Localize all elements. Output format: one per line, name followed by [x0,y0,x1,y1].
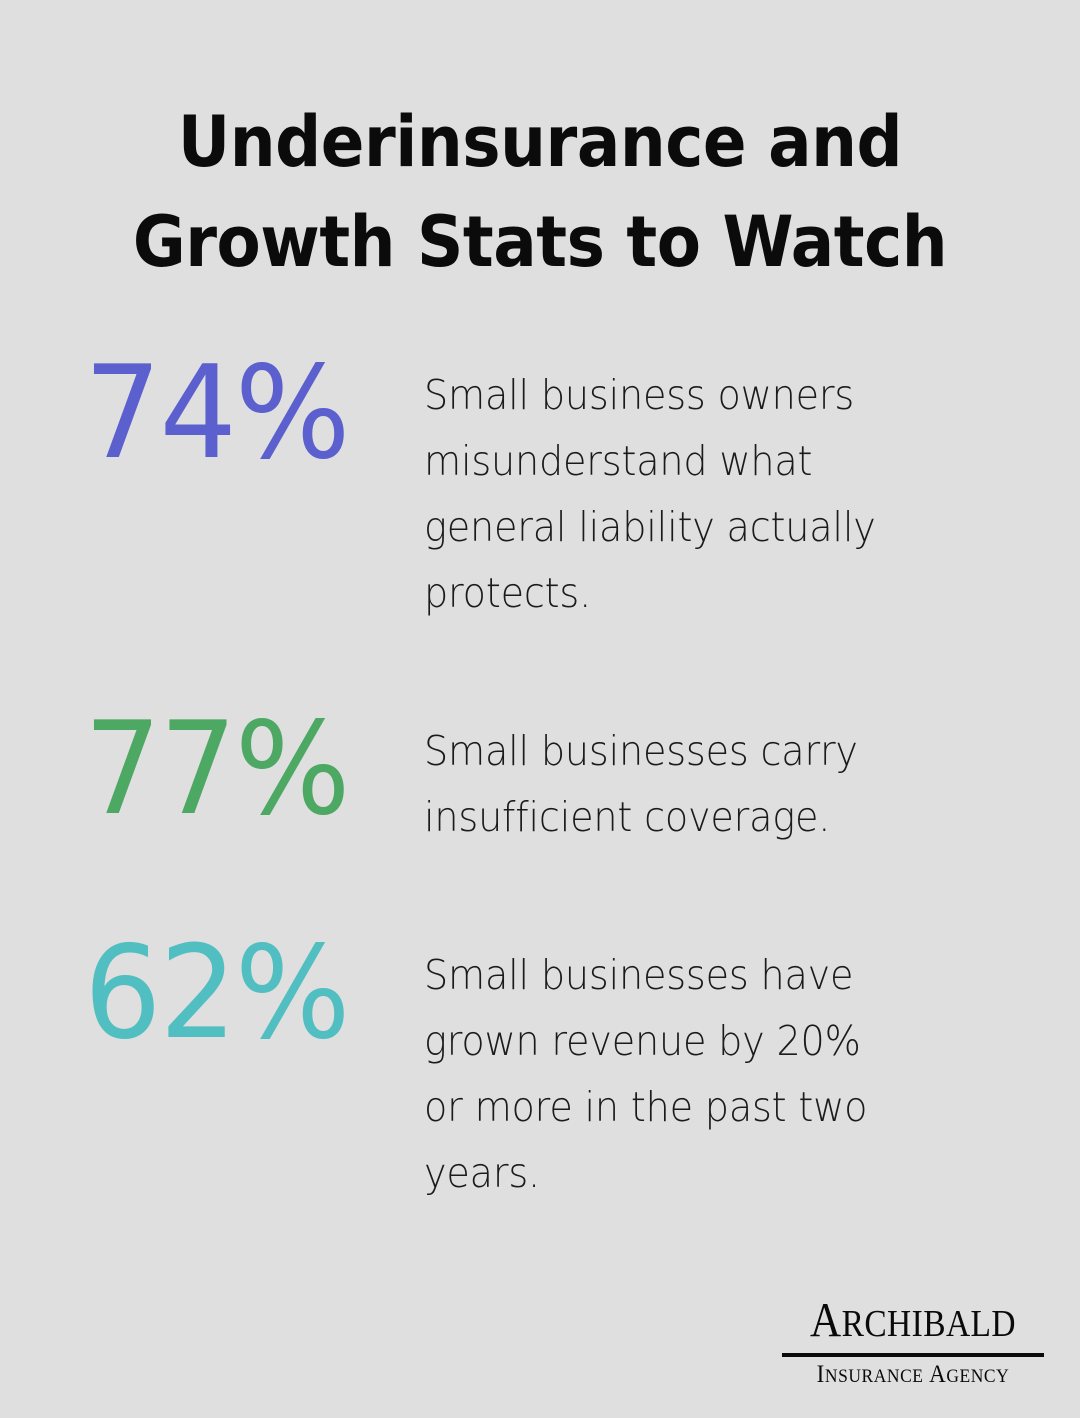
stat-description-2: Small businesses carry insufficient cove… [424,718,908,850]
stat-value-1: 74% [84,348,407,480]
stat-description-3: Small businesses have grown revenue by 2… [424,942,908,1206]
logo-wordmark-rest: RCHIBALD [842,1303,1016,1345]
logo-sub-rest-1: NSURANCE [825,1366,924,1387]
infographic-page: Underinsurance and Growth Stats to Watch… [0,0,1080,1418]
stat-value-3: 62% [84,928,407,1060]
stat-row: 77% Small businesses carry insufficient … [0,718,1080,850]
title-line-2: Growth Stats to Watch [43,192,1037,292]
logo-sub-initial-2: A [929,1361,946,1388]
company-logo: ARCHIBALD INSURANCE AGENCY [782,1294,1044,1390]
logo-wordmark: ARCHIBALD [798,1294,1029,1350]
title-line-1: Underinsurance and [43,92,1037,192]
logo-wordmark-initial: A [810,1292,842,1347]
logo-subtitle: INSURANCE AGENCY [792,1362,1033,1390]
stat-row: 74% Small business owners misunderstand … [0,362,1080,626]
logo-sub-rest-2: GENCY [946,1366,1009,1387]
logo-sub-initial-1: I [817,1361,825,1388]
stats-list: 74% Small business owners misunderstand … [0,362,1080,1206]
page-title: Underinsurance and Growth Stats to Watch [0,92,1080,292]
stat-description-1: Small business owners misunderstand what… [424,362,908,626]
logo-divider [782,1353,1044,1357]
stat-value-2: 77% [84,704,407,836]
stat-row: 62% Small businesses have grown revenue … [0,942,1080,1206]
